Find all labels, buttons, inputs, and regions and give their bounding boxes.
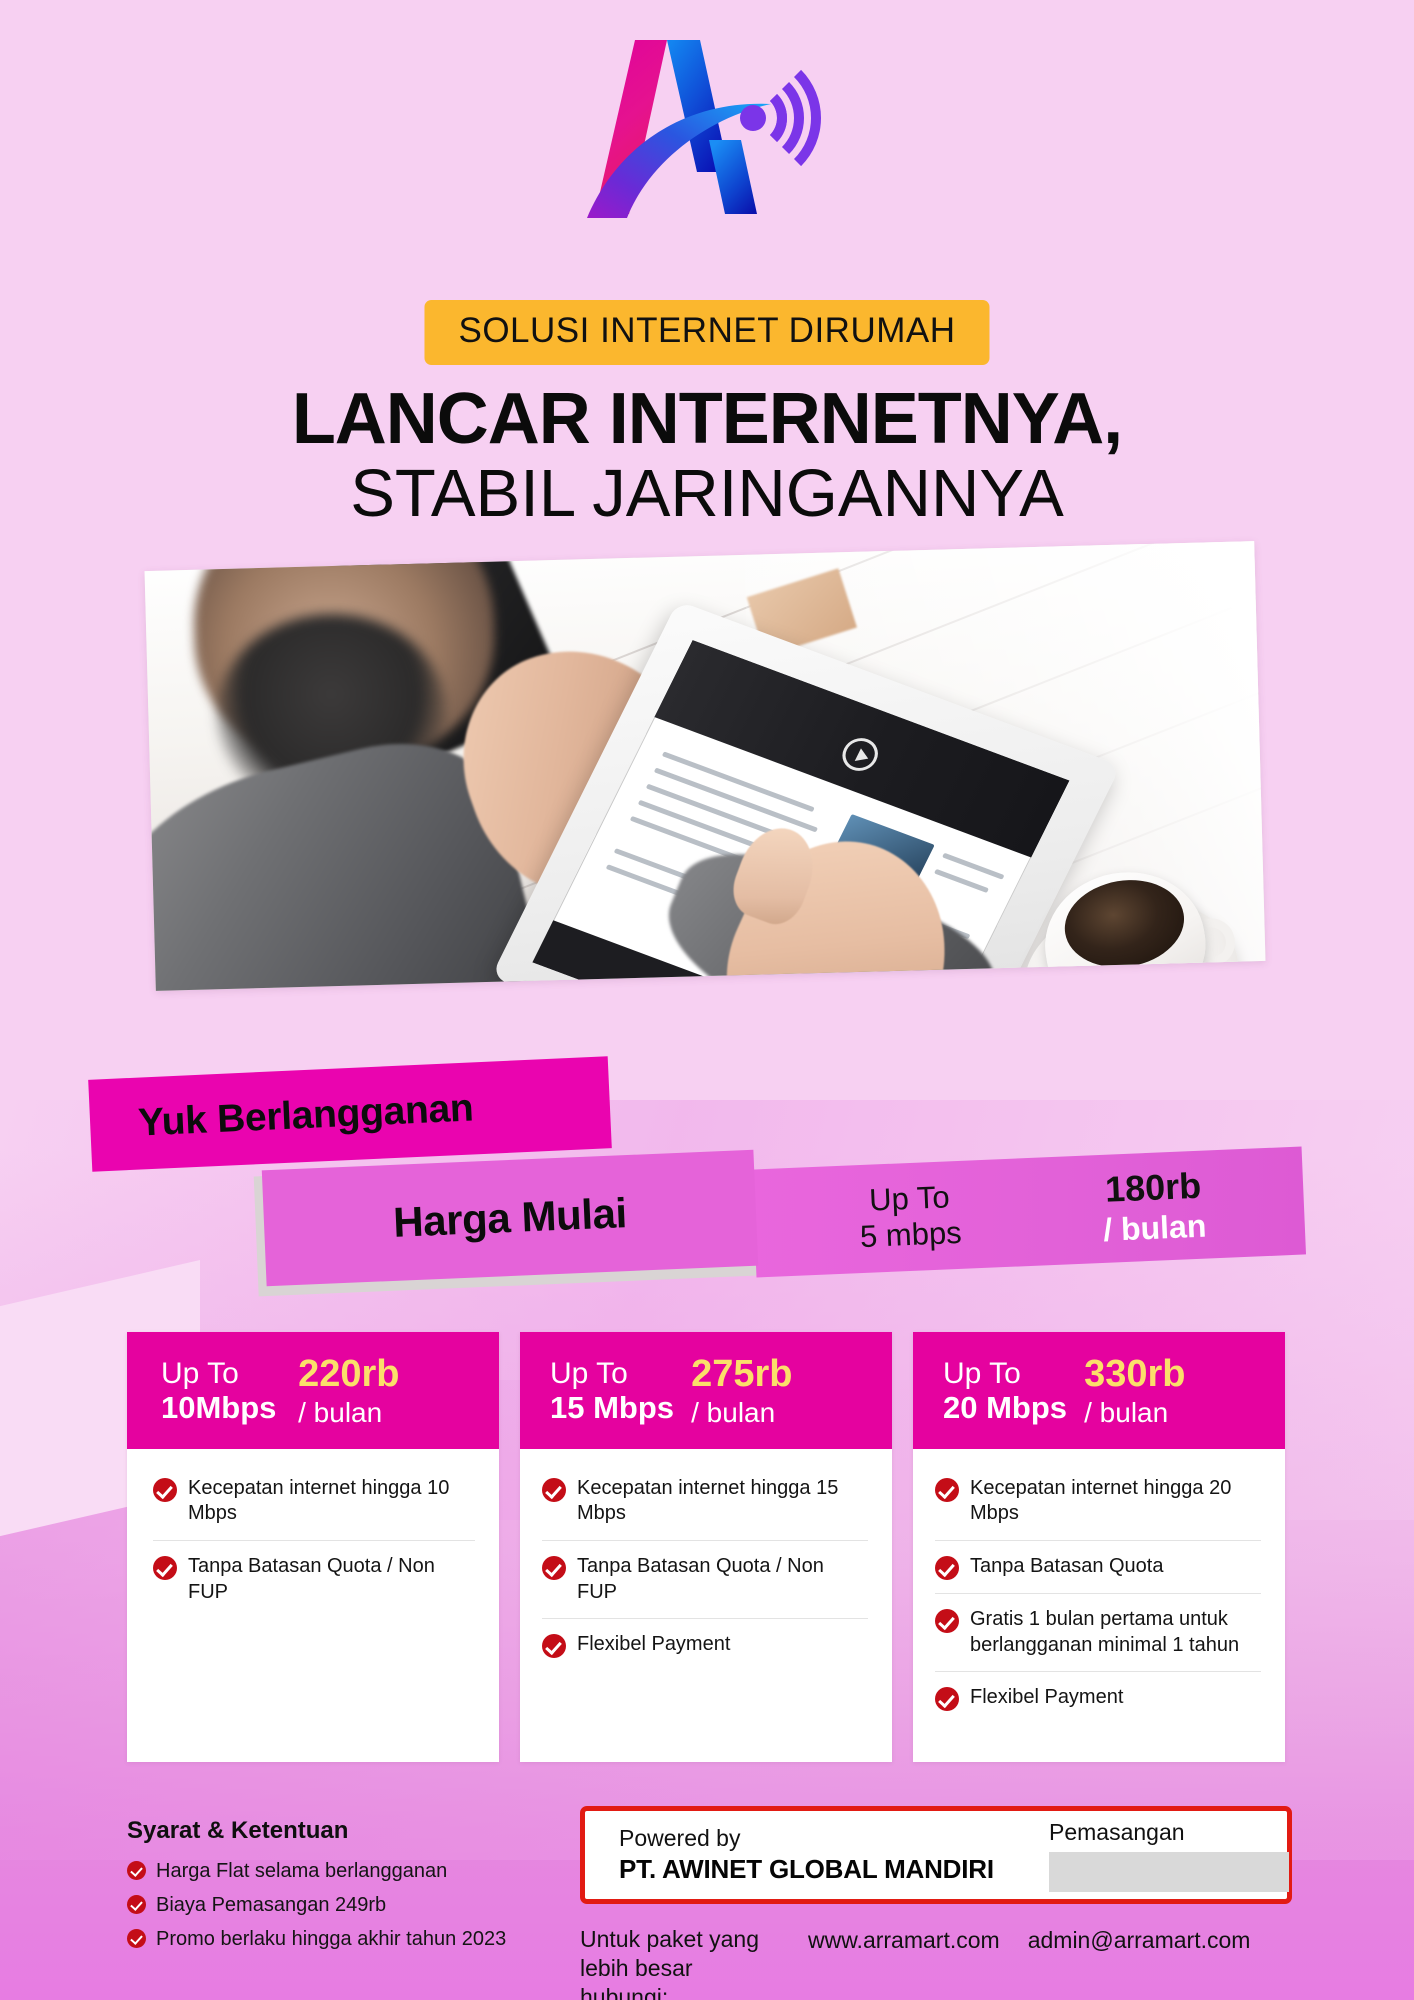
check-circle-icon bbox=[542, 1556, 566, 1580]
card-upto-label: Up To bbox=[943, 1357, 1084, 1391]
hero-photo bbox=[145, 541, 1266, 991]
check-circle-icon bbox=[127, 1929, 146, 1948]
pricing-card-features: Kecepatan internet hingga 20 Mbps Tanpa … bbox=[913, 1449, 1285, 1762]
pricing-card-15mbps[interactable]: Up To 15 Mbps 275rb / bulan Kecepatan in… bbox=[520, 1332, 892, 1762]
pricing-card-header: Up To 15 Mbps 275rb / bulan bbox=[520, 1332, 892, 1449]
tagline-banner: SOLUSI INTERNET DIRUMAH bbox=[424, 300, 989, 365]
card-price: 275rb bbox=[691, 1354, 892, 1396]
terms-section: Syarat & Ketentuan Harga Flat selama ber… bbox=[127, 1817, 557, 1961]
check-circle-icon bbox=[127, 1895, 146, 1914]
feature-text: Flexibel Payment bbox=[577, 1632, 730, 1658]
contact-prompt: Untuk paket yang lebih besar hubungi: bbox=[580, 1925, 780, 2000]
pricing-card-features: Kecepatan internet hingga 15 Mbps Tanpa … bbox=[520, 1449, 892, 1762]
harga-mulai-label: Harga Mulai bbox=[392, 1189, 627, 1247]
terms-text: Biaya Pemasangan 249rb bbox=[156, 1893, 386, 1917]
starting-price-box: Up To 5 mbps 180rb / bulan bbox=[752, 1147, 1306, 1278]
contact-row: Untuk paket yang lebih besar hubungi: ww… bbox=[580, 1925, 1340, 2000]
feature-item: Kecepatan internet hingga 15 Mbps bbox=[542, 1463, 868, 1541]
card-speed: 20 Mbps bbox=[943, 1391, 1084, 1426]
powered-by-company: PT. AWINET GLOBAL MANDIRI bbox=[619, 1853, 1049, 1886]
check-circle-icon bbox=[153, 1478, 177, 1502]
terms-item: Harga Flat selama berlangganan bbox=[127, 1859, 557, 1883]
feature-text: Gratis 1 bulan pertama untuk berlanggana… bbox=[970, 1607, 1261, 1658]
feature-text: Tanpa Batasan Quota bbox=[970, 1554, 1163, 1580]
card-price: 330rb bbox=[1084, 1354, 1285, 1396]
feature-item: Tanpa Batasan Quota bbox=[935, 1541, 1261, 1594]
starting-price-row: Up To 5 mbps 180rb / bulan Harga Mulai bbox=[256, 1160, 1308, 1290]
contact-email[interactable]: admin@arramart.com bbox=[1028, 1925, 1251, 1954]
feature-item: Flexibel Payment bbox=[542, 1619, 868, 1671]
card-period: / bulan bbox=[298, 1396, 499, 1429]
card-upto-label: Up To bbox=[161, 1357, 298, 1391]
feature-text: Tanpa Batasan Quota / Non FUP bbox=[577, 1554, 868, 1605]
powered-by-group: Powered by PT. AWINET GLOBAL MANDIRI bbox=[619, 1824, 1049, 1885]
headline-line-2: STABIL JARINGANNYA bbox=[0, 460, 1414, 528]
card-upto-label: Up To bbox=[550, 1357, 691, 1391]
pricing-card-header: Up To 10Mbps 220rb / bulan bbox=[127, 1332, 499, 1449]
feature-item: Kecepatan internet hingga 20 Mbps bbox=[935, 1463, 1261, 1541]
headline-line-1: LANCAR INTERNETNYA, bbox=[0, 385, 1414, 454]
installation-field[interactable] bbox=[1049, 1852, 1289, 1892]
feature-text: Kecepatan internet hingga 20 Mbps bbox=[970, 1476, 1261, 1527]
card-period: / bulan bbox=[691, 1396, 892, 1429]
feature-item: Gratis 1 bulan pertama untuk berlanggana… bbox=[935, 1594, 1261, 1672]
starting-price-speed-group: Up To 5 mbps bbox=[787, 1176, 1034, 1257]
pricing-cards: Up To 10Mbps 220rb / bulan Kecepatan int… bbox=[127, 1332, 1287, 1762]
awinet-a-logo bbox=[557, 22, 857, 232]
check-circle-icon bbox=[935, 1609, 959, 1633]
terms-text: Harga Flat selama berlangganan bbox=[156, 1859, 447, 1883]
feature-text: Flexibel Payment bbox=[970, 1685, 1123, 1711]
pricing-card-features: Kecepatan internet hingga 10 Mbps Tanpa … bbox=[127, 1449, 499, 1762]
terms-item: Biaya Pemasangan 249rb bbox=[127, 1893, 557, 1917]
terms-text: Promo berlaku hingga akhir tahun 2023 bbox=[156, 1927, 506, 1951]
cta-banner[interactable]: Yuk Berlangganan bbox=[88, 1056, 612, 1171]
check-circle-icon bbox=[935, 1556, 959, 1580]
check-circle-icon bbox=[935, 1478, 959, 1502]
installation-group: Pemasangan bbox=[1049, 1818, 1289, 1892]
terms-title: Syarat & Ketentuan bbox=[127, 1817, 557, 1845]
powered-by-label: Powered by bbox=[619, 1824, 1049, 1853]
poster-canvas: SOLUSI INTERNET DIRUMAH LANCAR INTERNETN… bbox=[0, 0, 1414, 2000]
pricing-card-20mbps[interactable]: Up To 20 Mbps 330rb / bulan Kecepatan in… bbox=[913, 1332, 1285, 1762]
check-circle-icon bbox=[127, 1861, 146, 1880]
card-speed: 10Mbps bbox=[161, 1391, 298, 1426]
starting-price-amount-group: 180rb / bulan bbox=[1030, 1161, 1277, 1253]
harga-mulai-box: Harga Mulai bbox=[262, 1150, 758, 1287]
contact-website[interactable]: www.arramart.com bbox=[808, 1925, 1000, 1954]
feature-item: Kecepatan internet hingga 10 Mbps bbox=[153, 1463, 475, 1541]
pricing-card-10mbps[interactable]: Up To 10Mbps 220rb / bulan Kecepatan int… bbox=[127, 1332, 499, 1762]
check-circle-icon bbox=[542, 1634, 566, 1658]
check-circle-icon bbox=[153, 1556, 177, 1580]
check-circle-icon bbox=[935, 1687, 959, 1711]
wifi-arc-icon bbox=[735, 61, 850, 176]
hero-photo-content bbox=[145, 541, 1266, 991]
cta-label: Yuk Berlangganan bbox=[137, 1086, 474, 1145]
brand-logo bbox=[0, 22, 1414, 232]
card-speed: 15 Mbps bbox=[550, 1391, 691, 1426]
powered-by-box: Powered by PT. AWINET GLOBAL MANDIRI Pem… bbox=[580, 1806, 1292, 1904]
feature-item: Tanpa Batasan Quota / Non FUP bbox=[542, 1541, 868, 1619]
installation-label: Pemasangan bbox=[1049, 1818, 1289, 1848]
feature-item: Tanpa Batasan Quota / Non FUP bbox=[153, 1541, 475, 1618]
terms-item: Promo berlaku hingga akhir tahun 2023 bbox=[127, 1927, 557, 1951]
card-period: / bulan bbox=[1084, 1396, 1285, 1429]
feature-text: Kecepatan internet hingga 15 Mbps bbox=[577, 1476, 868, 1527]
check-circle-icon bbox=[542, 1478, 566, 1502]
feature-text: Kecepatan internet hingga 10 Mbps bbox=[188, 1476, 475, 1527]
pricing-card-header: Up To 20 Mbps 330rb / bulan bbox=[913, 1332, 1285, 1449]
feature-item: Flexibel Payment bbox=[935, 1672, 1261, 1724]
feature-text: Tanpa Batasan Quota / Non FUP bbox=[188, 1554, 475, 1605]
card-price: 220rb bbox=[298, 1354, 499, 1396]
page-title: LANCAR INTERNETNYA, STABIL JARINGANNYA bbox=[0, 385, 1414, 528]
